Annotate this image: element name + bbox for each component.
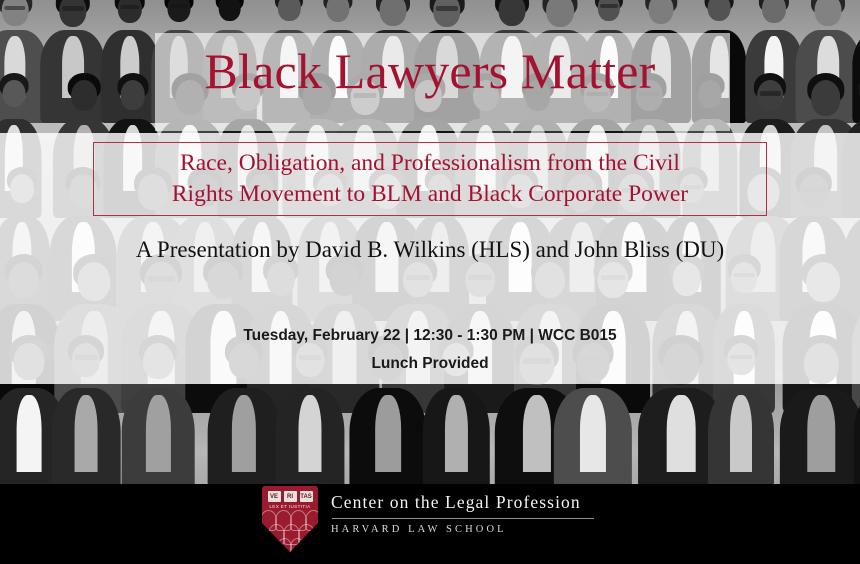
presenter-line: A Presentation by David B. Wilkins (HLS)… [0, 237, 860, 263]
shield-books: VE RI TAS [262, 491, 318, 502]
shield-book-3: TAS [300, 491, 313, 502]
event-datetime-location: Tuesday, February 22 | 12:30 - 1:30 PM |… [243, 327, 616, 344]
shield-book-1: VE [268, 491, 281, 502]
event-details: Tuesday, February 22 | 12:30 - 1:30 PM |… [0, 322, 860, 378]
subtitle-box: Race, Obligation, and Professionalism fr… [93, 142, 767, 216]
harvard-clp-logo: VE RI TAS LEX ET IUSTITIA Center on the … [262, 486, 594, 552]
shield-book-2: RI [284, 491, 297, 502]
subtitle-line-1: Race, Obligation, and Professionalism fr… [180, 150, 680, 176]
logo-divider [332, 518, 594, 519]
subtitle-line-2: Rights Movement to BLM and Black Corpora… [172, 181, 688, 207]
subtitle-text: Race, Obligation, and Professionalism fr… [166, 148, 694, 209]
poster-canvas: Black Lawyers Matter Race, Obligation, a… [0, 0, 860, 564]
event-lunch-note: Lunch Provided [371, 355, 488, 372]
logo-org-name: Center on the Legal Profession [331, 492, 594, 513]
harvard-shield-icon: VE RI TAS LEX ET IUSTITIA [262, 486, 318, 552]
shield-petal-pattern [262, 510, 318, 552]
page-title: Black Lawyers Matter [0, 44, 860, 98]
logo-text-block: Center on the Legal Profession HARVARD L… [331, 486, 594, 535]
logo-institution: HARVARD LAW SCHOOL [331, 524, 594, 535]
shield-motto: LEX ET IUSTITIA [262, 504, 318, 509]
